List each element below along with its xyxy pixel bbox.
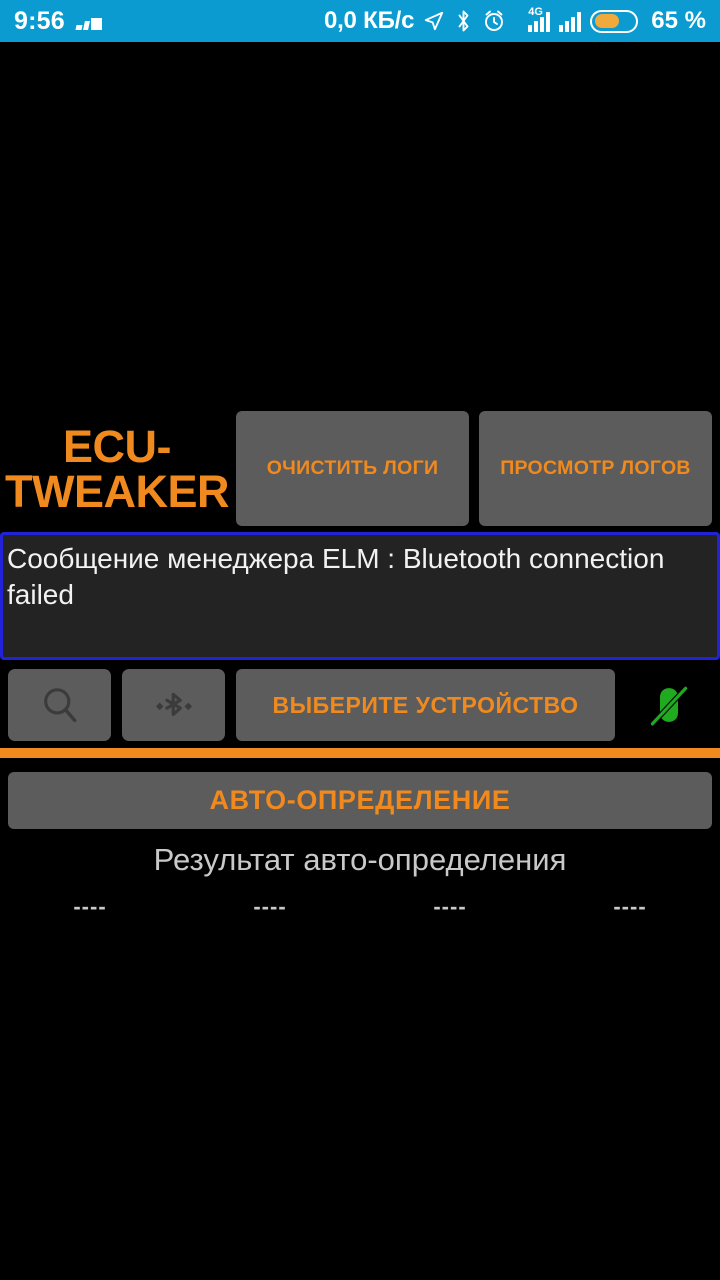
- auto-detect-value-2: ----: [360, 894, 540, 920]
- select-device-button[interactable]: ВЫБЕРИТЕ УСТРОЙСТВО: [236, 669, 615, 741]
- network-type-label: 4G: [528, 7, 543, 18]
- plug-disconnected-icon: [642, 678, 696, 732]
- status-bar: 9:56 0,0 КБ/c 4G: [0, 0, 720, 42]
- app-logo-line1: ECU-: [63, 421, 171, 472]
- bluetooth-search-icon: [152, 683, 196, 727]
- search-button[interactable]: [8, 669, 111, 741]
- app-logo-line2: TWEAKER: [5, 466, 229, 517]
- network-speed-label: 0,0 КБ/c: [324, 7, 414, 35]
- header-row: ECU- TWEAKER ОЧИСТИТЬ ЛОГИ ПРОСМОТР ЛОГО…: [0, 411, 720, 526]
- elm-manager-message-box[interactable]: Сообщение менеджера ELM : Bluetooth conn…: [0, 532, 720, 660]
- app-content: ECU- TWEAKER ОЧИСТИТЬ ЛОГИ ПРОСМОТР ЛОГО…: [0, 42, 720, 1280]
- auto-detect-button[interactable]: АВТО-ОПРЕДЕЛЕНИЕ: [8, 772, 712, 829]
- clear-logs-button[interactable]: ОЧИСТИТЬ ЛОГИ: [236, 411, 469, 526]
- battery-fill: [595, 14, 619, 28]
- auto-detect-value-3: ----: [540, 894, 720, 920]
- phone-screen: 9:56 0,0 КБ/c 4G: [0, 0, 720, 1280]
- search-icon: [38, 683, 82, 727]
- status-bar-clock: 9:56: [14, 7, 65, 36]
- device-row: ВЫБЕРИТЕ УСТРОЙСТВО: [0, 664, 720, 746]
- connection-status[interactable]: [626, 669, 712, 741]
- battery-percent-label: 65 %: [651, 7, 706, 35]
- location-arrow-icon: [423, 10, 445, 32]
- bluetooth-icon: [454, 9, 473, 33]
- view-logs-button[interactable]: ПРОСМОТР ЛОГОВ: [479, 411, 712, 526]
- auto-detect-result-label: Результат авто-определения: [0, 842, 720, 878]
- auto-detect-value-0: ----: [0, 894, 180, 920]
- auto-detect-values-row: ---- ---- ---- ----: [0, 894, 720, 920]
- app-logo: ECU- TWEAKER: [8, 411, 226, 526]
- status-bar-right-group: 0,0 КБ/c 4G: [324, 7, 706, 35]
- signal-bars-sim1-icon: 4G: [528, 10, 550, 32]
- notification-dots-icon: [76, 12, 102, 30]
- signal-bars-sim2-icon: [559, 10, 581, 32]
- battery-icon: [590, 10, 638, 33]
- orange-divider: [0, 748, 720, 758]
- alarm-clock-icon: [482, 9, 506, 33]
- auto-detect-value-1: ----: [180, 894, 360, 920]
- bluetooth-scan-button[interactable]: [122, 669, 225, 741]
